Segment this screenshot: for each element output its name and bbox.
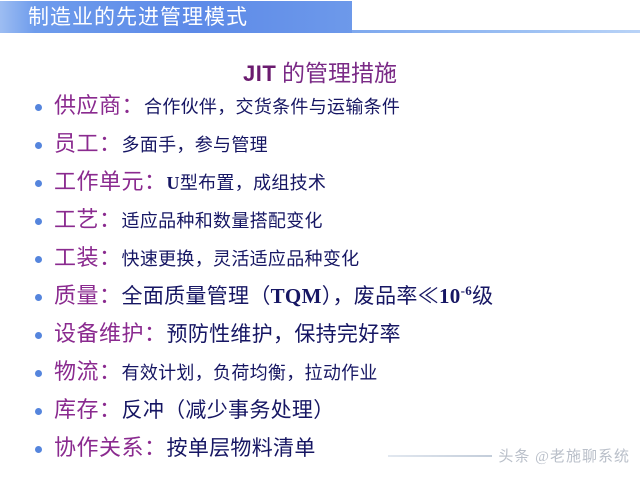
list-item-body: 合作伙伴，交货条件与运输条件 xyxy=(144,97,400,117)
slide-title-jit: JIT xyxy=(243,61,276,86)
list-item-body: 全面质量管理（TQM），废品率≪10-6级 xyxy=(122,284,494,308)
quality-part1: 全面质量管理（ xyxy=(122,284,271,308)
header-divider-line xyxy=(352,30,640,33)
watermark: 头条 @老施聊系统 xyxy=(388,445,630,466)
bullet-dot-icon xyxy=(35,332,42,339)
list-item-body: 有效计划，负荷均衡，拉动作业 xyxy=(122,363,378,383)
list-item: 员工：多面手，参与管理 xyxy=(0,126,640,164)
u-shape-marker: U xyxy=(167,173,180,193)
list-item: 工装：快速更换，灵活适应品种变化 xyxy=(0,240,640,278)
list-item-label: 工艺： xyxy=(54,207,122,232)
defect-rate-exponent: -6 xyxy=(461,283,472,298)
watermark-text: 头条 @老施聊系统 xyxy=(498,445,630,466)
list-item: 质量：全面质量管理（TQM），废品率≪10-6级 xyxy=(0,278,640,316)
bullet-dot-icon xyxy=(35,180,42,187)
bullet-dot-icon xyxy=(35,218,42,225)
list-item-label: 员工： xyxy=(54,131,122,156)
bullet-dot-icon xyxy=(35,142,42,149)
list-item-label: 库存： xyxy=(54,397,122,422)
tqm-acronym: TQM xyxy=(271,284,322,308)
defect-rate-base: 10 xyxy=(439,284,461,308)
list-item-body: 多面手，参与管理 xyxy=(122,135,268,155)
header-title: 制造业的先进管理模式 xyxy=(28,1,248,33)
list-item-label: 工装： xyxy=(54,245,122,270)
bullet-dot-icon xyxy=(35,446,42,453)
list-item: 设备维护：预防性维护，保持完好率 xyxy=(0,316,640,354)
list-item: 供应商：合作伙伴，交货条件与运输条件 xyxy=(0,88,640,126)
list-item-body: 反冲（减少事务处理） xyxy=(122,398,335,422)
list-item-body: 适应品种和数量搭配变化 xyxy=(122,211,323,231)
list-item-label: 协作关系： xyxy=(54,435,167,460)
slide-title: JIT 的管理措施 xyxy=(0,54,640,88)
list-item-body: 预防性维护，保持完好率 xyxy=(167,322,401,346)
list-item: 工艺：适应品种和数量搭配变化 xyxy=(0,202,640,240)
list-item-body: U型布置，成组技术 xyxy=(167,173,327,193)
bullet-dot-icon xyxy=(35,294,42,301)
bullet-dot-icon xyxy=(35,370,42,377)
list-item-label: 设备维护： xyxy=(54,321,167,346)
bullet-dot-icon xyxy=(35,256,42,263)
quality-part3: 级 xyxy=(472,284,493,308)
list-item-label: 物流： xyxy=(54,359,122,384)
watermark-line xyxy=(388,455,492,457)
bullet-list: 供应商：合作伙伴，交货条件与运输条件 员工：多面手，参与管理 工作单元：U型布置… xyxy=(0,88,640,468)
list-item: 工作单元：U型布置，成组技术 xyxy=(0,164,640,202)
list-item-body: 按单层物料清单 xyxy=(167,436,316,460)
slide-title-suffix: 的管理措施 xyxy=(276,61,397,86)
list-item-body: 快速更换，灵活适应品种变化 xyxy=(122,249,360,269)
bullet-dot-icon xyxy=(35,408,42,415)
quality-part2: ），废品率≪ xyxy=(322,284,439,308)
list-item-label: 供应商： xyxy=(54,93,144,118)
slide-header: 制造业的先进管理模式 xyxy=(0,0,640,36)
list-item-label: 质量： xyxy=(54,283,122,308)
list-item: 库存：反冲（减少事务处理） xyxy=(0,392,640,430)
list-item-label: 工作单元： xyxy=(54,169,167,194)
workcell-rest: 型布置，成组技术 xyxy=(180,173,326,193)
bullet-dot-icon xyxy=(35,104,42,111)
list-item: 物流：有效计划，负荷均衡，拉动作业 xyxy=(0,354,640,392)
